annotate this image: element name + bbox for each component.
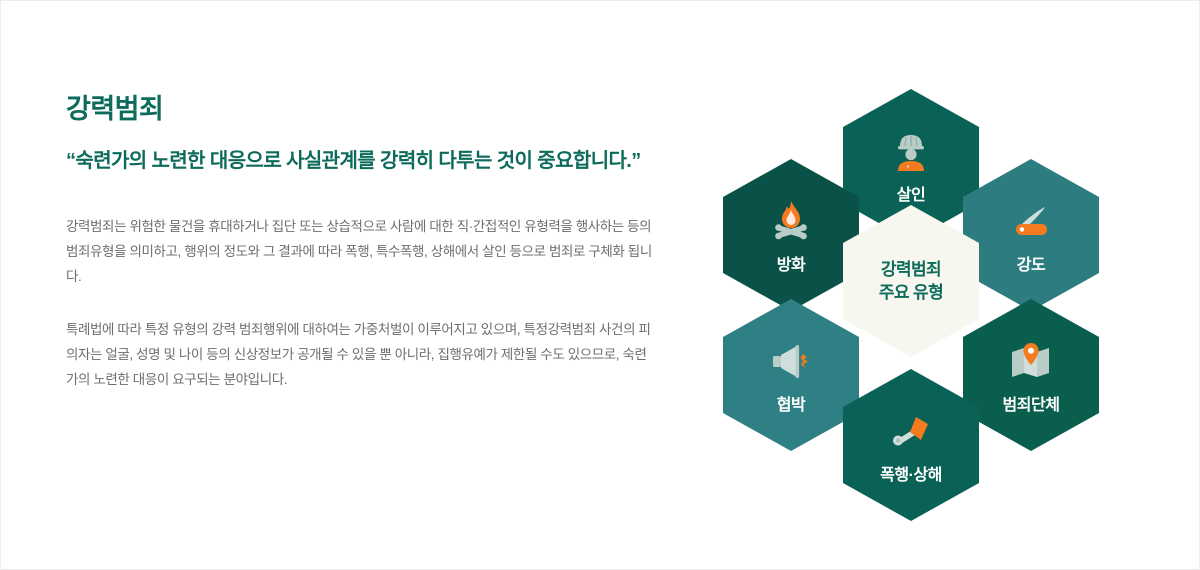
pocket-knife-icon [1005,195,1057,247]
hex-node-robbery[interactable]: 강도 [963,159,1099,311]
hex-node-arson[interactable]: 방화 [723,159,859,311]
hex-node-assault-injury[interactable]: 폭행·상해 [843,369,979,521]
hex-label: 방화 [777,251,805,275]
hex-label: 범죄단체 [1003,391,1060,415]
hammer-icon [885,405,937,457]
map-pin-icon [1005,335,1057,387]
center-line-2: 주요 유형 [879,281,943,304]
hex-label: 폭행·상해 [880,461,942,485]
hex-label: 강도 [1017,251,1045,275]
center-line-1: 강력범죄 [881,258,941,281]
text-column: 강력범죄 “숙련가의 노련한 대응으로 사실관계를 강력히 다투는 것이 중요합… [66,93,666,393]
hex-center-label: 강력범죄 주요 유형 [843,205,979,357]
crime-types-hex-diagram: 살인 방화 [701,61,1121,501]
hex-label: 살인 [897,181,925,205]
hex-label: 협박 [777,391,805,415]
person-hardhat-icon [885,125,937,177]
hex-node-criminal-organization[interactable]: 범죄단체 [963,299,1099,451]
megaphone-icon [765,335,817,387]
campfire-flame-icon [765,195,817,247]
hex-node-intimidation[interactable]: 협박 [723,299,859,451]
body-paragraph-2: 특례법에 따라 특정 유형의 강력 범죄행위에 대하여는 가중처벌이 이루어지고… [66,318,656,393]
page-title: 강력범죄 [66,93,666,125]
infographic-page: 강력범죄 “숙련가의 노련한 대응으로 사실관계를 강력히 다투는 것이 중요합… [0,0,1200,570]
lead-quote: “숙련가의 노련한 대응으로 사실관계를 강력히 다투는 것이 중요합니다.” [66,147,646,177]
body-paragraph-1: 강력범죄는 위험한 물건을 휴대하거나 집단 또는 상습적으로 사람에 대한 직… [66,215,656,290]
